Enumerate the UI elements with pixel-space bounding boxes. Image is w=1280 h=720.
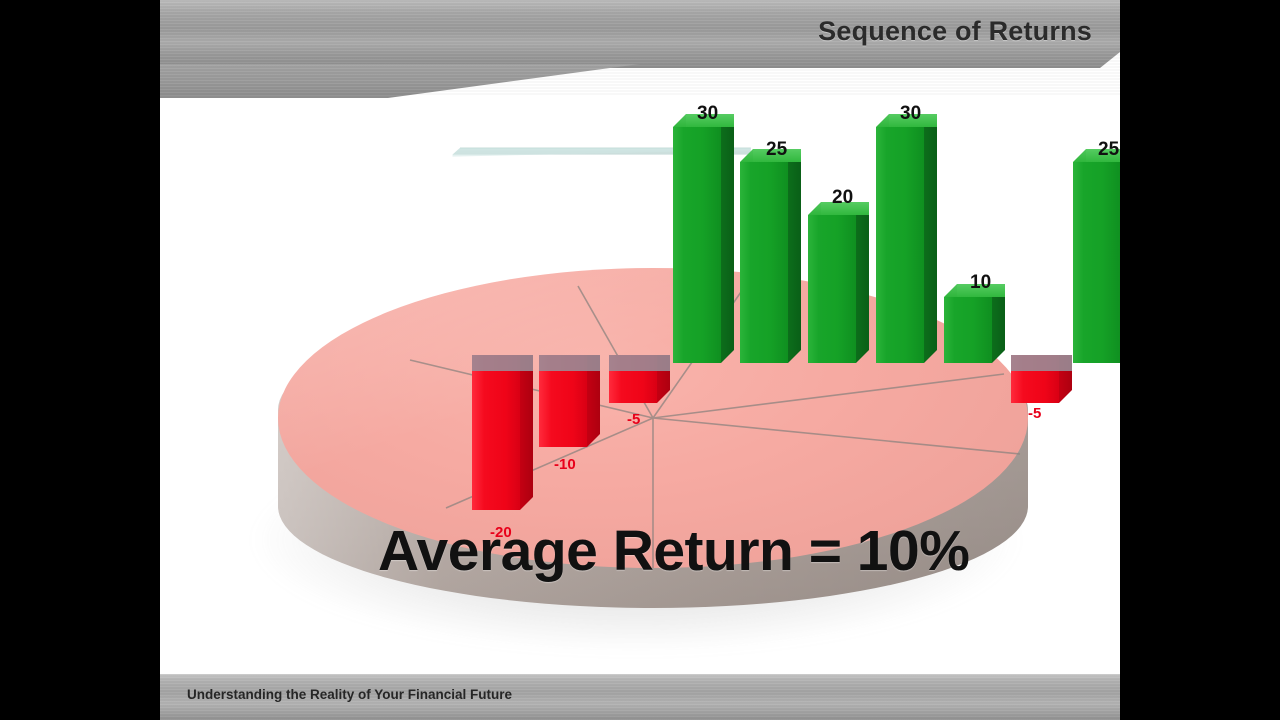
bar-value-label: -5 [1028,405,1041,422]
bar-front-face [1073,162,1120,363]
bar-value-label: 20 [832,187,853,209]
bar-6-positive [808,215,856,363]
bar-10-positive [1073,162,1120,363]
bar-5-positive [740,162,788,363]
sequence-of-returns-chart: -20-10-53025203010-525 Average Return = … [160,0,1120,720]
bar-8-positive [944,297,992,363]
footer-tagline: Understanding the Reality of Your Financ… [187,687,512,702]
bar-2-negative [539,355,587,447]
bar-side-face [788,162,801,363]
bar-value-label: 25 [766,139,787,161]
bar-value-label: -10 [554,456,576,473]
letterbox-right [1120,0,1280,720]
bar-front-face [876,127,924,363]
bar-7-positive [876,127,924,363]
bar-4-positive [673,127,721,363]
bar-side-face [992,297,1005,363]
bar-side-face [721,127,734,363]
bar-submerged-cap [609,355,670,371]
bar-value-label: 10 [970,272,991,294]
bar-front-face [808,215,856,363]
bar-1-negative [472,355,520,510]
bar-front-face [740,162,788,363]
slide-stage: -20-10-53025203010-525 Average Return = … [0,0,1280,720]
bar-front-face [944,297,992,363]
slide-footer: Understanding the Reality of Your Financ… [160,674,1120,720]
bar-value-label: 30 [697,103,718,125]
bar-9-negative [1011,355,1059,403]
page-title: Sequence of Returns [818,16,1092,47]
bar-side-face [520,355,533,510]
bar-front-face [673,127,721,363]
header-band-lower [160,64,1120,98]
average-return-caption: Average Return = 10% [378,518,969,584]
bar-submerged-cap [1011,355,1072,371]
bar-submerged-cap [472,355,533,371]
slide-canvas: -20-10-53025203010-525 Average Return = … [160,0,1120,720]
letterbox-left [0,0,160,720]
bar-side-face [924,127,937,363]
bar-submerged-cap [539,355,600,371]
bar-value-label: 25 [1098,139,1119,161]
bar-3-negative [609,355,657,403]
bar-front-face [472,355,520,510]
bar-side-face [856,215,869,363]
bar-group: -20-10-53025203010-525 [160,0,1120,720]
bar-value-label: -5 [627,411,640,428]
bar-value-label: 30 [900,103,921,125]
slide-header: Sequence of Returns [160,0,1120,96]
